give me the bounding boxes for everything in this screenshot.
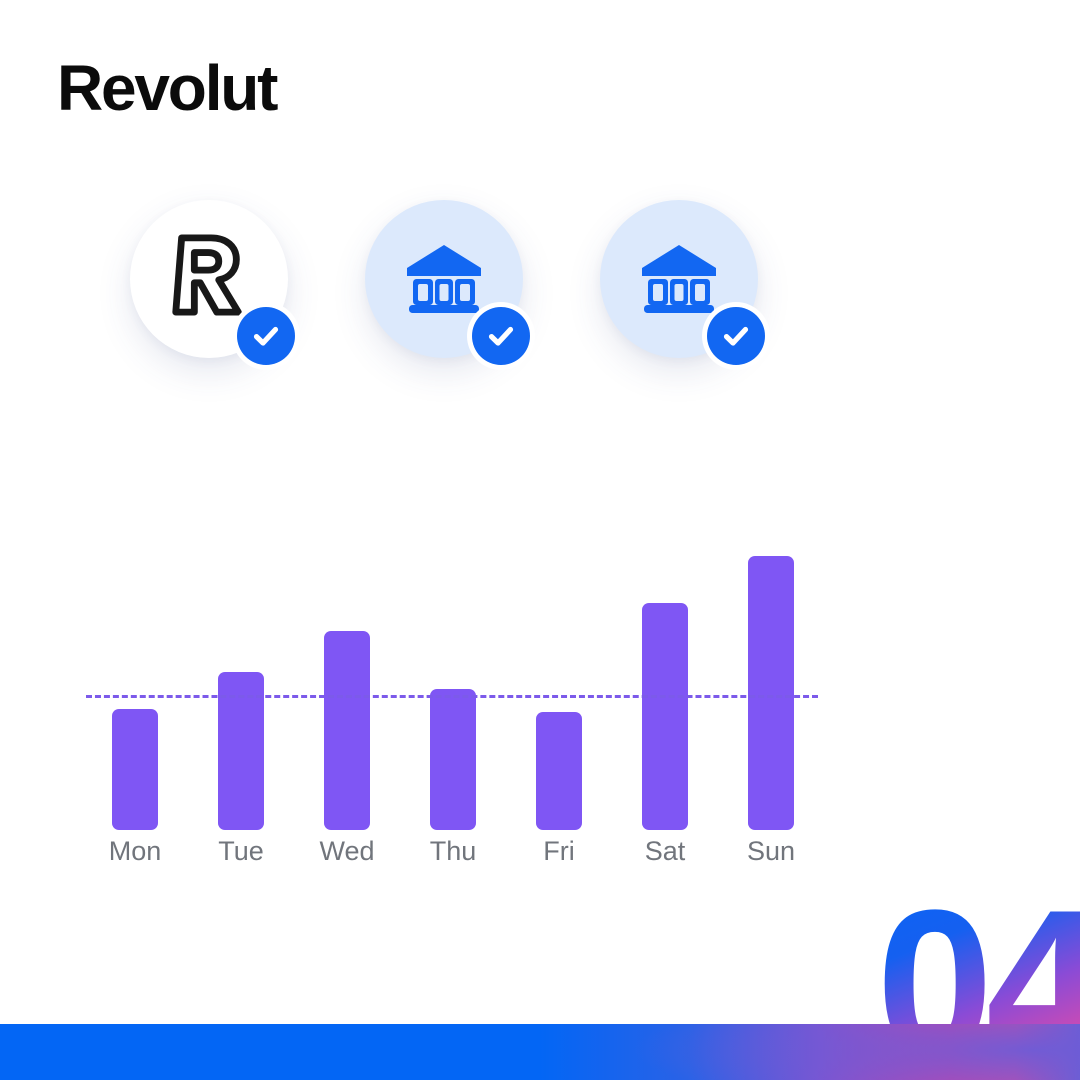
check-icon xyxy=(484,319,518,353)
account-badge-bank-2[interactable] xyxy=(600,200,758,358)
linked-accounts-row xyxy=(0,200,1080,400)
verified-badge-bank-2 xyxy=(702,302,770,370)
chart-axis-label-wed: Wed xyxy=(294,836,400,867)
check-icon xyxy=(249,319,283,353)
account-badge-bank-1[interactable] xyxy=(365,200,523,358)
verified-badge-circle xyxy=(237,307,295,365)
chart-bar[interactable] xyxy=(324,631,370,830)
revolut-r-icon xyxy=(171,232,247,318)
chart-axis-label-mon: Mon xyxy=(82,836,188,867)
chart-bar[interactable] xyxy=(642,603,688,830)
chart-plot-area xyxy=(0,540,1080,830)
chart-axis-label-sun: Sun xyxy=(718,836,824,867)
bank-icon xyxy=(640,243,718,315)
bank-icon xyxy=(405,243,483,315)
chart-axis-label-fri: Fri xyxy=(506,836,612,867)
chart-axis-label-sat: Sat xyxy=(612,836,718,867)
chart-axis-label-tue: Tue xyxy=(188,836,294,867)
chart-average-line xyxy=(86,695,818,698)
revolut-wordmark: Revolut xyxy=(57,56,276,120)
chart-bar[interactable] xyxy=(112,709,158,830)
slide-canvas: Revolut xyxy=(0,0,1080,1080)
chart-bar[interactable] xyxy=(748,556,794,830)
verified-badge-circle xyxy=(472,307,530,365)
weekly-spending-chart: MonTueWedThuFriSatSun xyxy=(0,540,1080,890)
verified-badge-bank-1 xyxy=(467,302,535,370)
account-badge-revolut[interactable] xyxy=(130,200,288,358)
verified-badge-circle xyxy=(707,307,765,365)
footer-gradient-bar xyxy=(0,1024,1080,1080)
verified-badge-revolut xyxy=(232,302,300,370)
chart-bar[interactable] xyxy=(536,712,582,830)
chart-axis-label-thu: Thu xyxy=(400,836,506,867)
check-icon xyxy=(719,319,753,353)
chart-bar[interactable] xyxy=(430,689,476,830)
